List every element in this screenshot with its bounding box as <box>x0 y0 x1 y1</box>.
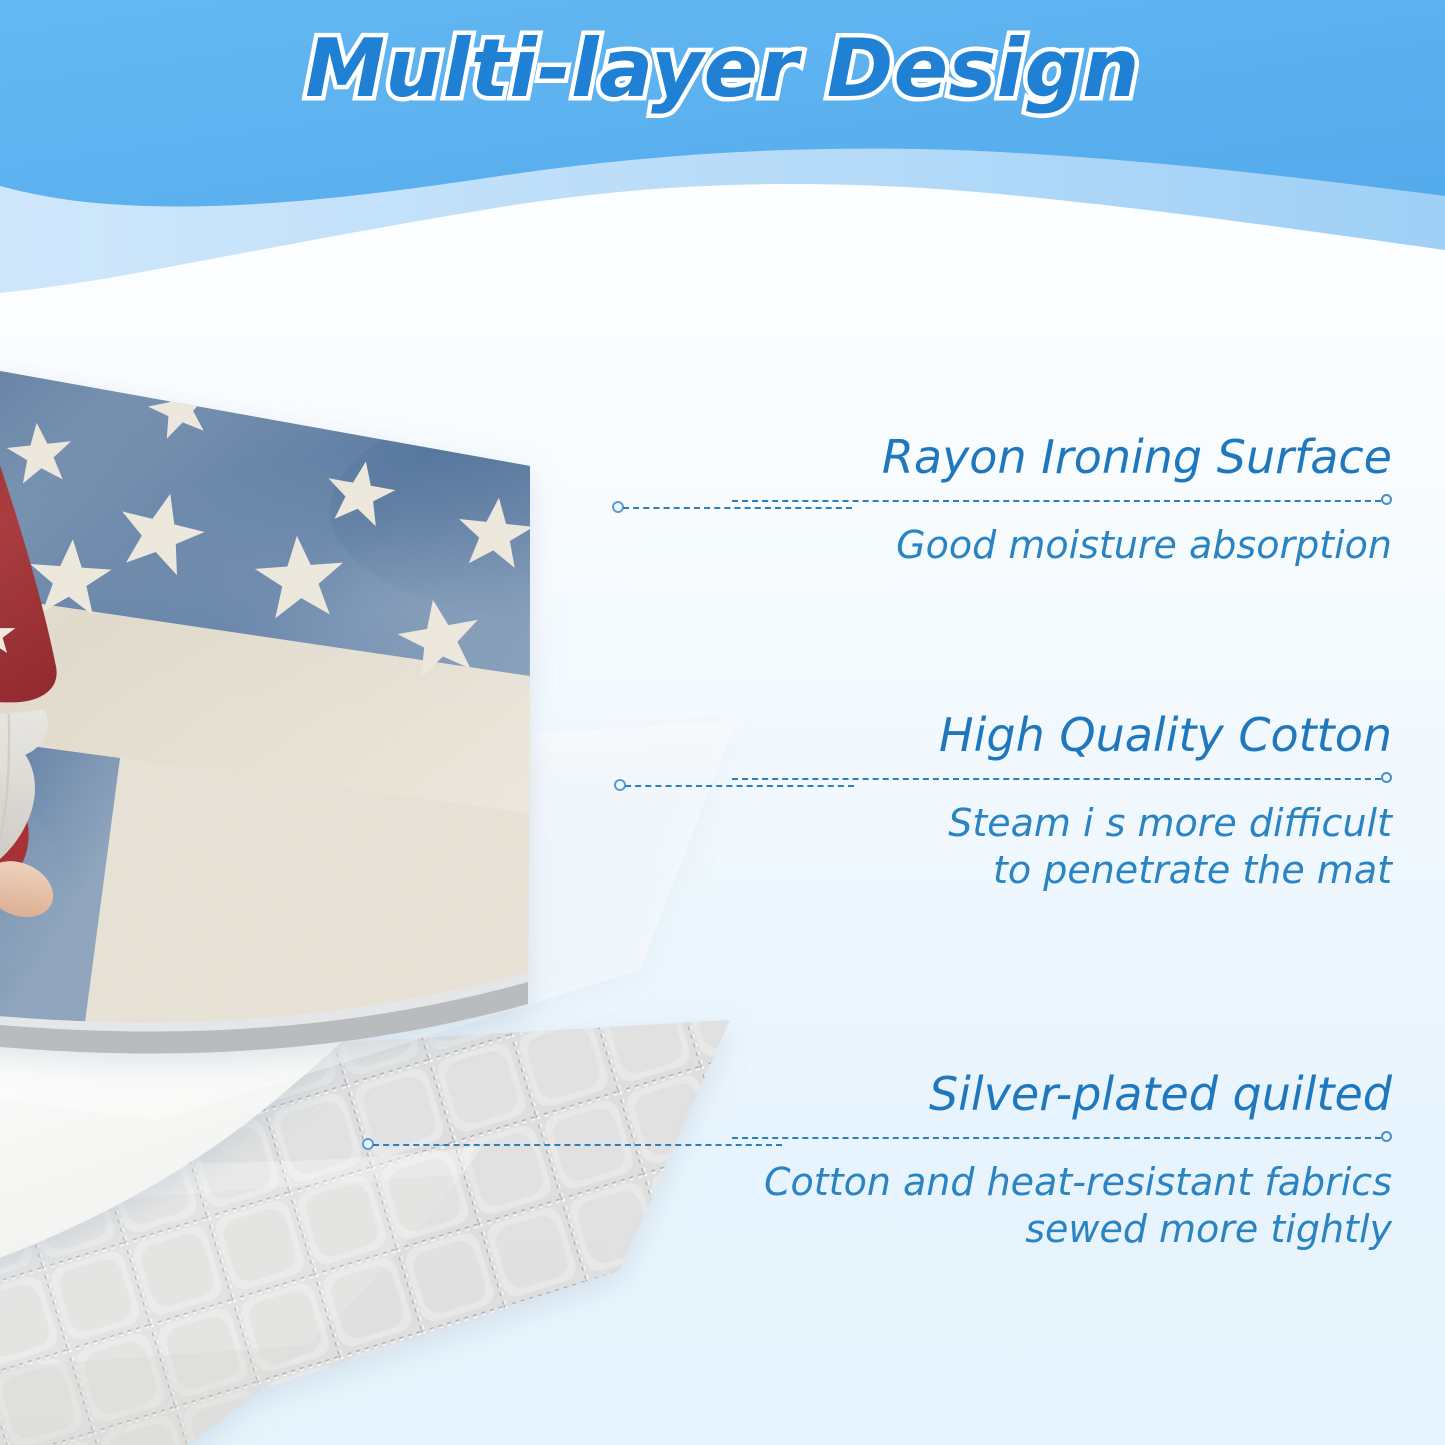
callout-rule <box>732 494 1392 508</box>
callout-rule <box>732 1131 1392 1145</box>
callout-subtext-line: Cotton and heat-resistant fabrics <box>732 1159 1392 1205</box>
callout-subtext: Cotton and heat-resistant fabrics sewed … <box>732 1159 1392 1252</box>
product-layer-stack <box>0 280 800 1445</box>
infographic-page: Multi-layer Design Multi-layer Design <box>0 0 1445 1445</box>
callout-dot <box>1381 772 1392 783</box>
callout-subtext-line: to penetrate the mat <box>732 847 1392 893</box>
callout-rule <box>732 772 1392 786</box>
callout-high-quality-cotton: High Quality Cotton Steam i s more diffi… <box>732 708 1392 893</box>
callout-headline: Rayon Ironing Surface <box>732 430 1392 484</box>
callout-dot <box>1381 494 1392 505</box>
leader-line-3 <box>362 1138 782 1152</box>
callout-subtext-line: Steam i s more difficult <box>732 800 1392 846</box>
callout-subtext-line: Good moisture absorption <box>732 522 1392 568</box>
callout-headline: High Quality Cotton <box>732 708 1392 762</box>
callout-headline: Silver-plated quilted <box>732 1067 1392 1121</box>
callout-silver-plated-quilted: Silver-plated quilted Cotton and heat-re… <box>732 1067 1392 1252</box>
callout-subtext: Good moisture absorption <box>732 522 1392 568</box>
printed-rayon-top-layer <box>0 230 840 1130</box>
callout-dot <box>1381 1131 1392 1142</box>
gnome-flag-print <box>0 230 840 1130</box>
callout-subtext: Steam i s more difficult to penetrate th… <box>732 800 1392 893</box>
callout-subtext-line: sewed more tightly <box>732 1206 1392 1252</box>
page-title: Multi-layer Design <box>0 22 1445 115</box>
page-title-wrap: Multi-layer Design Multi-layer Design <box>0 0 1445 160</box>
callout-rayon-ironing-surface: Rayon Ironing Surface Good moisture abso… <box>732 430 1392 569</box>
